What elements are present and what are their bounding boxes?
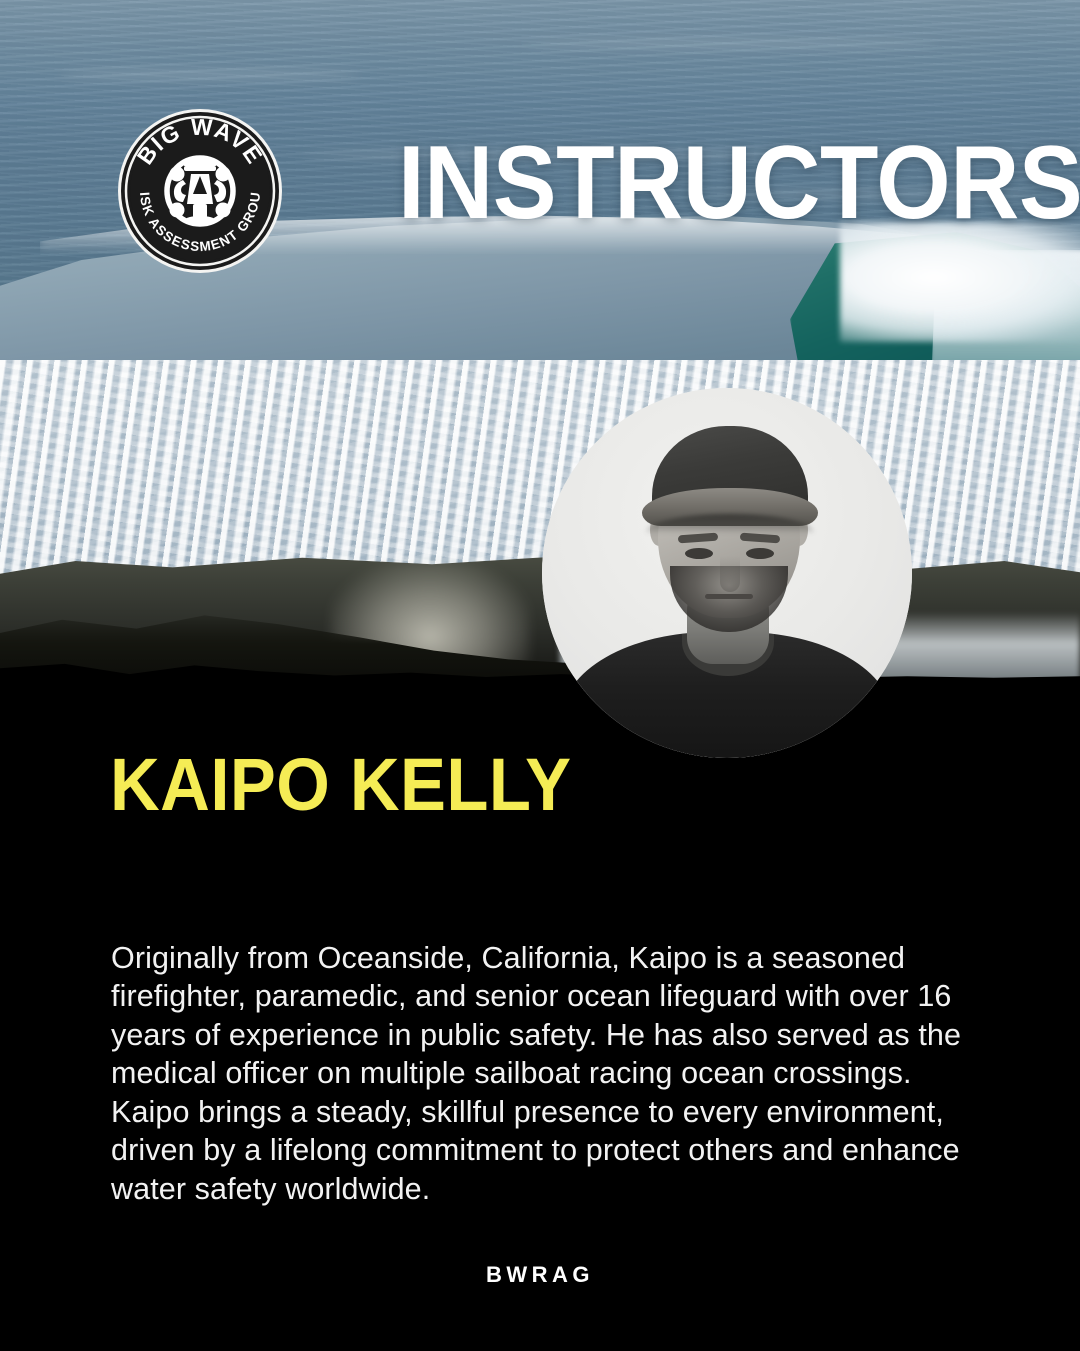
instructor-name: KAIPO KELLY [110,748,571,822]
whitewater-foam-field [0,360,1080,590]
footer-brand: BWRAG [0,1262,1080,1288]
portrait-eye-right [746,548,774,559]
portrait-mouth [705,594,753,599]
page-title: INSTRUCTORS [398,131,1080,235]
bwrag-logo[interactable]: BIG WAVE RISK ASSESSMENT GROUP [117,108,283,274]
instructor-portrait-photo [542,388,912,758]
portrait-eye-left [685,548,713,559]
water-texture-streak [60,70,360,80]
ocean-wave-background-photo [0,0,1080,700]
instructor-profile-poster: BIG WAVE RISK ASSESSMENT GROUP [0,0,1080,1351]
instructor-bio: Originally from Oceanside, California, K… [111,939,991,1209]
water-texture-streak [520,40,940,48]
